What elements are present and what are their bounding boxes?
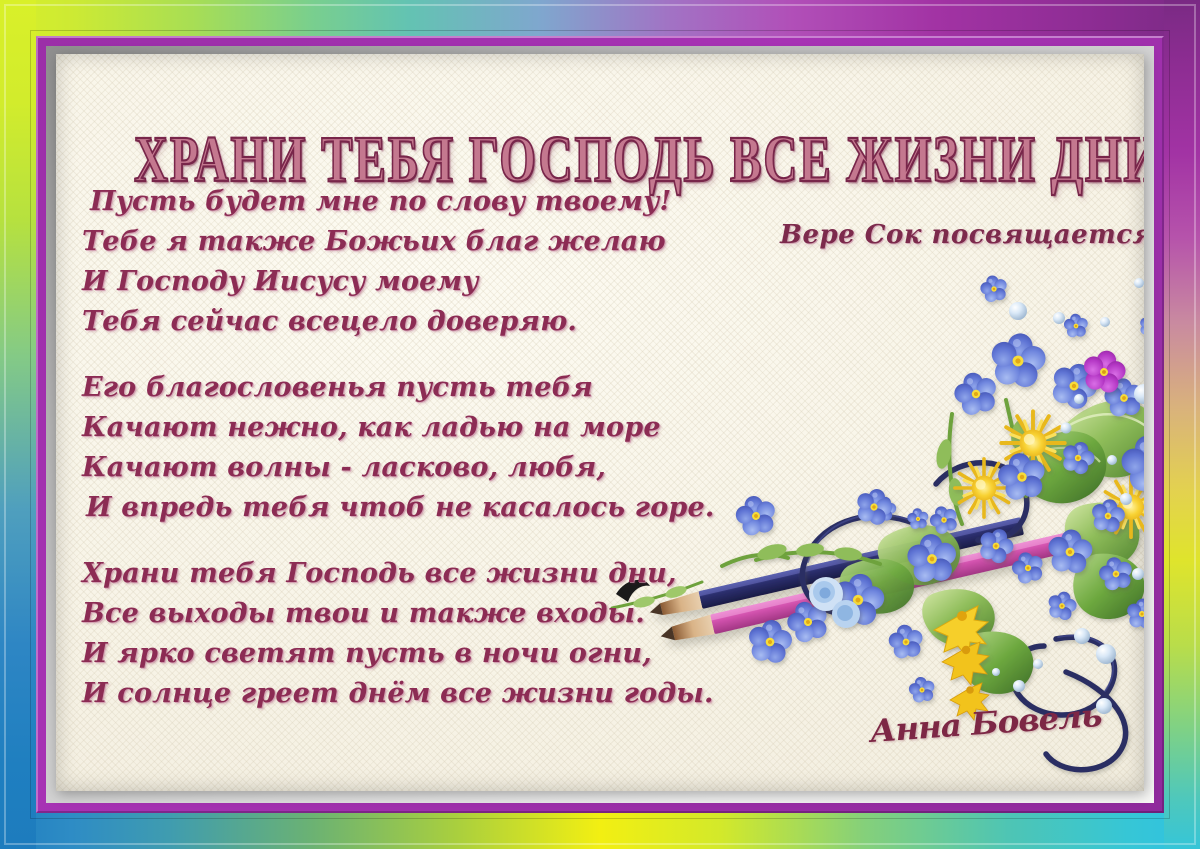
greeting-card: ХРАНИ ТЕБЯ ГОСПОДЬ ВСЕ ЖИЗНИ ДНИ Вере Со… — [0, 0, 1200, 849]
poem-stanza: Храни тебя Господь все жизни дни, Все вы… — [82, 554, 682, 714]
poem-line: Его благословенья пусть тебя — [82, 368, 682, 408]
pearl-beads — [992, 278, 1144, 714]
poem-line: И солнце греет днём все жизни годы. — [82, 674, 682, 714]
author-signature: Анна Бовель — [869, 698, 1103, 750]
poem-body: Пусть будет мне по слову твоему! Тебе я … — [82, 182, 682, 740]
paper-surface: ХРАНИ ТЕБЯ ГОСПОДЬ ВСЕ ЖИЗНИ ДНИ Вере Со… — [56, 54, 1144, 791]
poem-line: Храни тебя Господь все жизни дни, — [82, 554, 682, 594]
poem-line: Пусть будет мне по слову твоему! — [82, 182, 682, 222]
poem-line: Тебя сейчас всецело доверяю. — [82, 302, 682, 342]
purple-flower-group — [1079, 347, 1144, 469]
poem-line: И ярко светят пусть в ночи огни, — [82, 634, 682, 674]
poem-stanza: Пусть будет мне по слову твоему! Тебе я … — [82, 182, 682, 342]
poem-line: И Господу Иисусу моему — [82, 262, 682, 302]
poem-line: Качают нежно, как ладью на море — [82, 408, 682, 448]
blue-flower-group — [733, 273, 1144, 704]
frame-edge-right — [1164, 0, 1200, 849]
poem-line: Качают волны - ласково, любя, — [82, 448, 682, 488]
dedication-text: Вере Сок посвящается — [780, 220, 1144, 250]
frame-edge-top — [0, 0, 1200, 36]
poem-line: Тебе я также Божьих благ желаю — [82, 222, 682, 262]
poem-stanza: Его благословенья пусть тебя Качают нежн… — [82, 368, 682, 528]
leaf-group — [722, 400, 1144, 694]
poem-line: Все выходы твои и также входы. — [82, 594, 682, 634]
pale-blue-rose — [809, 577, 860, 628]
frame-edge-left — [0, 0, 36, 849]
pencil-group — [648, 517, 1075, 646]
poem-line: И впредь тебя чтоб не касалось горе. — [82, 488, 682, 528]
yellow-flower-group — [934, 411, 1144, 720]
frame-edge-bottom — [0, 813, 1200, 849]
